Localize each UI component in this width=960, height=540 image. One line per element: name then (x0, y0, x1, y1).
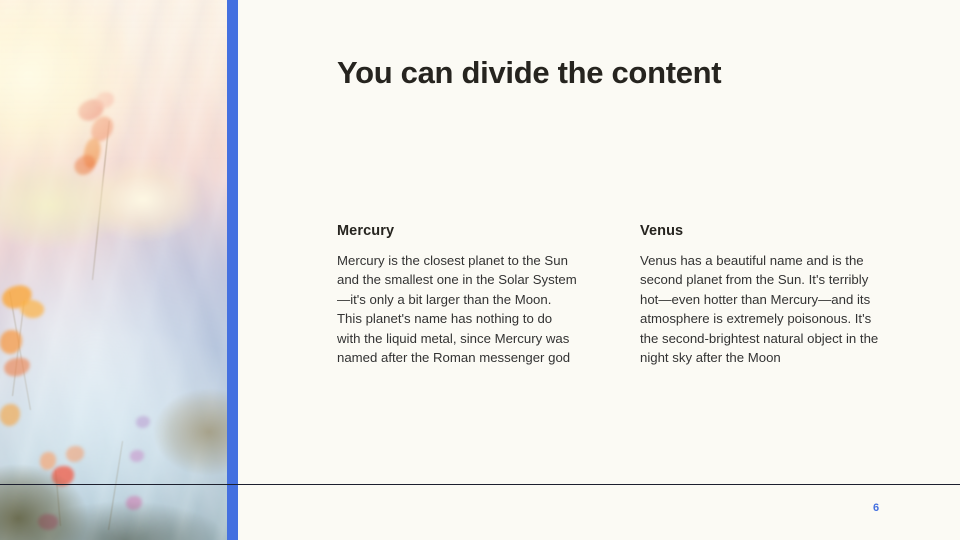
column-paragraph: Venus has a beautiful name and is the se… (640, 251, 882, 367)
column-paragraph: Mercury is the closest planet to the Sun… (337, 251, 579, 367)
slide: You can divide the content Mercury Mercu… (0, 0, 960, 540)
page-title: You can divide the content (337, 55, 721, 91)
page-number: 6 (873, 502, 879, 514)
column-venus: Venus Venus has a beautiful name and is … (640, 223, 882, 367)
column-heading: Venus (640, 223, 882, 239)
column-heading: Mercury (337, 223, 579, 239)
photo-soft-focus (0, 0, 227, 540)
accent-bar (227, 0, 238, 540)
footer-divider (0, 484, 960, 485)
column-mercury: Mercury Mercury is the closest planet to… (337, 223, 579, 367)
two-column-body: Mercury Mercury is the closest planet to… (337, 223, 883, 367)
content-area: You can divide the content Mercury Mercu… (238, 0, 960, 540)
decorative-photo (0, 0, 227, 540)
